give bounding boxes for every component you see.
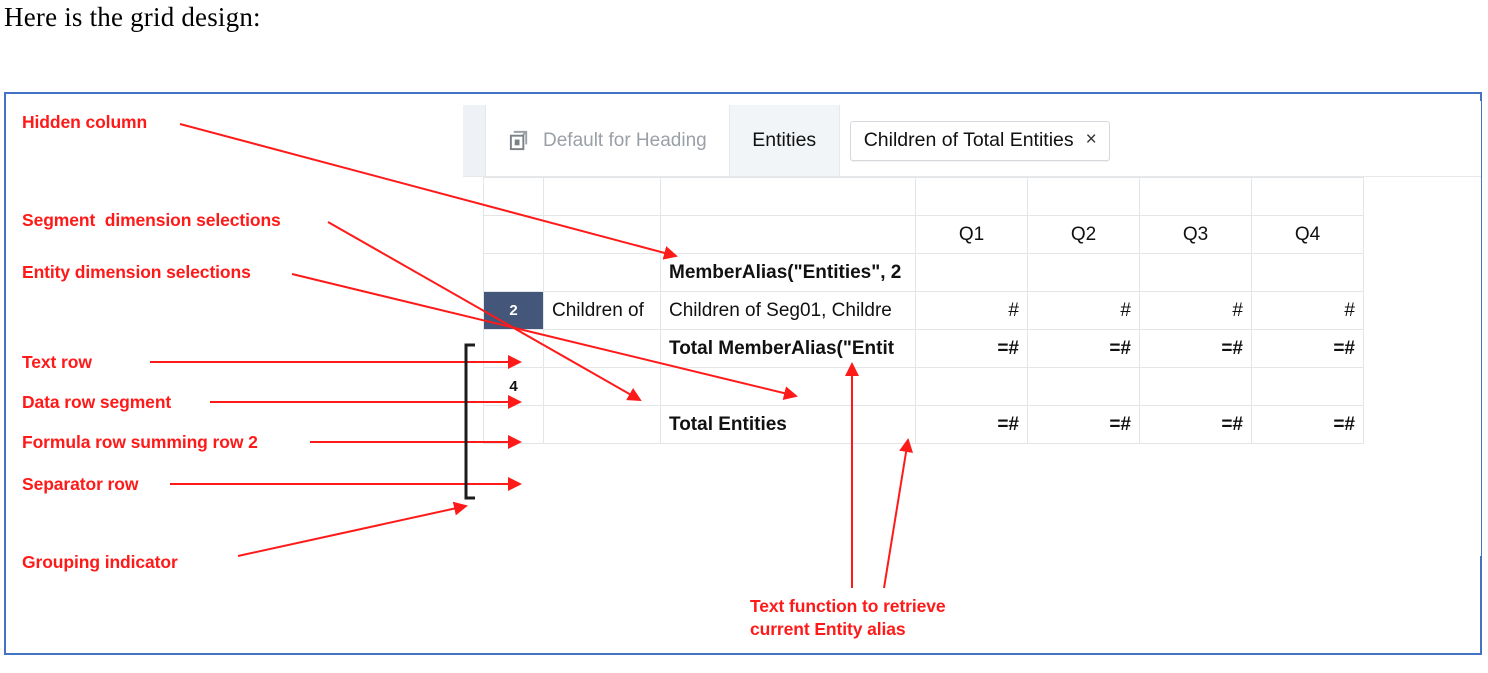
row-5-hidden-cell[interactable] [544,406,661,444]
row-4-cell-c[interactable] [1140,368,1252,406]
row-5-label-cell[interactable]: Total Entities [661,406,916,444]
period-cell-q4[interactable]: Q4 [1252,216,1364,254]
row-2-label-cell[interactable]: Children of Seg01, Childre [661,292,916,330]
period-cell-q3[interactable]: Q3 [1140,216,1252,254]
column-header-d[interactable]: D [1252,178,1364,216]
label-column-header[interactable] [661,178,916,216]
spreadsheet-grid: A B C D Q1 Q2 Q3 Q4 1 MemberAlias("Entit… [483,177,1364,444]
annotation-formula-row: Formula row summing row 2 [22,432,258,453]
row-3-hidden-cell[interactable] [544,330,661,368]
close-icon[interactable]: × [1086,129,1097,151]
table-row: 2 Children of Children of Seg01, Childre… [484,292,1364,330]
period-label-cell[interactable] [661,216,916,254]
grid-widget: Default for Heading Entities Children of… [463,101,1481,556]
row-2-cell-b[interactable]: # [1028,292,1140,330]
chip-container: Children of Total Entities × [840,105,1481,176]
period-hidden-cell[interactable] [544,216,661,254]
tab-default-for-heading[interactable]: Default for Heading [486,105,730,176]
row-2-cell-d[interactable]: # [1252,292,1364,330]
column-header-b[interactable]: B [1028,178,1140,216]
annotation-entity-dimension: Entity dimension selections [22,262,251,283]
annotation-separator-row: Separator row [22,474,138,495]
row-4-hidden-cell[interactable] [544,368,661,406]
chip-label: Children of Total Entities [864,129,1074,152]
tab-entities-label: Entities [752,129,816,152]
annotation-data-row-segment: Data row segment [22,392,171,413]
table-row: 4 [484,368,1364,406]
column-header-row: A B C D [484,178,1364,216]
chip-children-of-total-entities[interactable]: Children of Total Entities × [850,121,1110,161]
period-cell-q1[interactable]: Q1 [916,216,1028,254]
row-2-cell-c[interactable]: # [1140,292,1252,330]
row-number-3[interactable]: 3 [484,330,544,368]
row-5-cell-a[interactable]: =# [916,406,1028,444]
annotation-segment-dimension: Segment dimension selections [22,210,281,231]
row-4-cell-a[interactable] [916,368,1028,406]
row-1-cell-a[interactable] [916,254,1028,292]
period-cell-q2[interactable]: Q2 [1028,216,1140,254]
row-number-1[interactable]: 1 [484,254,544,292]
annotation-hidden-column: Hidden column [22,112,147,133]
page-title: Here is the grid design: [4,2,261,33]
table-row: 5 Total Entities =# =# =# =# [484,406,1364,444]
row-4-label-cell[interactable] [661,368,916,406]
row-4-cell-b[interactable] [1028,368,1140,406]
row-number-5[interactable]: 5 [484,406,544,444]
row-number-2[interactable]: 2 [484,292,544,330]
tab-default-label: Default for Heading [543,130,707,152]
row-3-cell-a[interactable]: =# [916,330,1028,368]
tab-entities[interactable]: Entities [730,105,840,176]
row-number-4[interactable]: 4 [484,368,544,406]
column-header-c[interactable]: C [1140,178,1252,216]
cube-icon [508,129,531,152]
row-1-cell-b[interactable] [1028,254,1140,292]
row-2-hidden-cell[interactable]: Children of [544,292,661,330]
row-2-cell-a[interactable]: # [916,292,1028,330]
row-1-cell-c[interactable] [1140,254,1252,292]
table-row: 3 Total MemberAlias("Entit =# =# =# =# [484,330,1364,368]
row-1-hidden-cell[interactable] [544,254,661,292]
hidden-column-header[interactable] [544,178,661,216]
annotation-text-function: Text function to retrieve current Entity… [750,595,946,641]
annotation-grouping-indicator: Grouping indicator [22,552,178,573]
table-row: 1 MemberAlias("Entities", 2 [484,254,1364,292]
tab-bar: Default for Heading Entities Children of… [463,105,1481,177]
row-5-cell-b[interactable]: =# [1028,406,1140,444]
row-3-label-cell[interactable]: Total MemberAlias("Entit [661,330,916,368]
row-3-cell-c[interactable]: =# [1140,330,1252,368]
row-4-cell-d[interactable] [1252,368,1364,406]
annotation-text-row: Text row [22,352,92,373]
period-row-number[interactable] [484,216,544,254]
row-3-cell-d[interactable]: =# [1252,330,1364,368]
row-5-cell-c[interactable]: =# [1140,406,1252,444]
period-row: Q1 Q2 Q3 Q4 [484,216,1364,254]
tab-bar-gutter [463,105,486,176]
row-1-label-cell[interactable]: MemberAlias("Entities", 2 [661,254,916,292]
corner-cell [484,178,544,216]
row-5-cell-d[interactable]: =# [1252,406,1364,444]
row-3-cell-b[interactable]: =# [1028,330,1140,368]
row-1-cell-d[interactable] [1252,254,1364,292]
column-header-a[interactable]: A [916,178,1028,216]
